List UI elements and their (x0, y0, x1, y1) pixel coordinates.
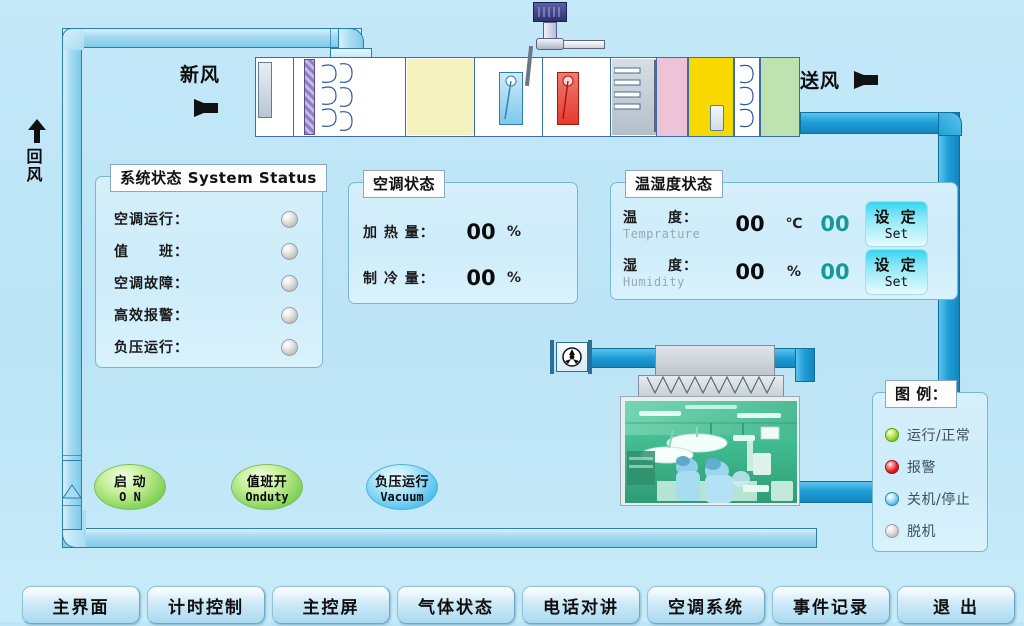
nav-button-label: 空调系统 (668, 593, 744, 618)
legend-gray-lamp-icon (885, 524, 899, 538)
supply-duct-top (800, 112, 960, 134)
ahu-segment-pink (656, 57, 688, 137)
duct-seam (62, 505, 82, 506)
legend-label: 脱机 (907, 521, 936, 541)
temperature-row: 温 度： Temprature 00 ℃ 00 设 定 Set (623, 201, 928, 247)
ahu-access-panel (710, 105, 724, 131)
legend-red-lamp-icon (885, 460, 899, 474)
ac-status-panel: 空调状态 加 热 量： 00 % 制 冷 量： 00 % (348, 182, 578, 304)
fan-flange-right (588, 340, 592, 374)
legend-item-running: 运行/正常 (885, 425, 970, 445)
supply-air-label-group: 送风 (800, 66, 876, 93)
status-row-label: 负压运行： (114, 337, 189, 357)
hepa-coil-icon (737, 62, 757, 132)
valve-pipe-horizontal (563, 40, 605, 49)
duct-top-horizontal (62, 28, 362, 48)
humidity-unit: % (777, 264, 811, 280)
temperature-label: 温 度： (623, 207, 723, 227)
system-status-title: 系统状态 System Status (110, 164, 327, 192)
status-row-label: 值 班： (114, 241, 189, 261)
nav-button-event-log[interactable]: 事件记录 (772, 586, 890, 624)
humidity-set-label-en: Set (885, 275, 908, 290)
bottom-nav-bar: 主界面 计时控制 主控屏 气体状态 电话对讲 空调系统 事件记录 退 出 (0, 586, 1024, 626)
humidity-set-label-cn: 设 定 (874, 254, 918, 275)
ac-status-title: 空调状态 (363, 170, 445, 198)
temperature-label-group: 温 度： Temprature (623, 207, 723, 241)
nav-button-label: 计时控制 (168, 593, 244, 618)
valve-body (536, 38, 564, 50)
humidity-label-en: Humidity (623, 275, 723, 289)
nav-button-label: 退 出 (933, 593, 979, 618)
temperature-set-label-en: Set (885, 227, 908, 242)
temperature-value: 00 (723, 212, 777, 236)
humidity-label-group: 湿 度： Humidity (623, 255, 723, 289)
legend-panel: 图 例： 运行/正常 报警 关机/停止 脱机 (872, 392, 988, 552)
hvac-mimic-screen: 新风 送风 回风 系统状态 System Status 空调运行： 值 班： 空… (0, 0, 1024, 622)
status-lamp-negative-pressure (281, 339, 298, 356)
legend-item-alarm: 报警 (885, 457, 970, 477)
supply-duct-corner (938, 112, 962, 136)
temp-humidity-panel: 温湿度状态 温 度： Temprature 00 ℃ 00 设 定 Set 湿 … (610, 182, 958, 300)
actuator-fins-icon (534, 3, 566, 21)
onduty-button[interactable]: 值班开 Onduty (231, 464, 303, 510)
legend-blue-lamp-icon (885, 492, 899, 506)
humidity-setpoint: 00 (811, 260, 859, 284)
nav-button-label: 主界面 (53, 593, 110, 618)
ac-row-label: 加 热 量： (363, 222, 455, 242)
nav-button-label: 事件记录 (793, 593, 869, 618)
fresh-air-label-group: 新风 (180, 60, 220, 117)
legend-item-stopped: 关机/停止 (885, 489, 970, 509)
exhaust-fan-housing (556, 342, 588, 372)
nav-button-main[interactable]: 主界面 (22, 586, 140, 624)
status-row-label: 高效报警： (114, 305, 189, 325)
nav-button-timer-control[interactable]: 计时控制 (147, 586, 265, 624)
vacuum-button[interactable]: 负压运行 Vacuum (366, 464, 438, 510)
status-row: 高效报警： (114, 299, 308, 331)
return-air-label: 回风 (26, 148, 44, 184)
humidity-set-button[interactable]: 设 定 Set (865, 249, 928, 295)
onduty-button-label-en: Onduty (245, 490, 288, 504)
onduty-button-label-cn: 值班开 (247, 471, 288, 490)
humidity-label: 湿 度： (623, 255, 723, 275)
temperature-setpoint: 00 (811, 212, 859, 236)
operating-room-image (625, 401, 797, 503)
status-row-label: 空调故障： (114, 273, 189, 293)
nav-button-main-panel[interactable]: 主控屏 (272, 586, 390, 624)
legend-label: 报警 (907, 457, 936, 477)
status-row: 空调故障： (114, 267, 308, 299)
operating-room-video-frame[interactable] (620, 396, 800, 506)
fresh-air-label: 新风 (180, 60, 220, 87)
legend-title: 图 例： (885, 380, 957, 408)
supply-duct-dropper (795, 348, 815, 382)
damper-triangle-icon (62, 482, 83, 500)
temp-humidity-title: 温湿度状态 (625, 170, 723, 198)
start-button-label-en: O N (119, 490, 141, 504)
nav-button-exit[interactable]: 退 出 (897, 586, 1015, 624)
fan-icon (557, 343, 587, 371)
hepa-filter-box (638, 375, 784, 397)
legend-label: 运行/正常 (907, 425, 970, 445)
ac-status-rows: 加 热 量： 00 % 制 冷 量： 00 % (363, 209, 565, 301)
status-row: 值 班： (114, 235, 308, 267)
duct-corner-topleft (62, 28, 84, 50)
ac-row-value: 00 (455, 266, 507, 290)
legend-items: 运行/正常 报警 关机/停止 脱机 (885, 425, 970, 553)
status-lamp-onduty (281, 243, 298, 260)
status-row: 负压运行： (114, 331, 308, 363)
nav-button-gas-status[interactable]: 气体状态 (397, 586, 515, 624)
temperature-set-label-cn: 设 定 (874, 206, 918, 227)
nav-button-label: 主控屏 (303, 593, 360, 618)
ac-row-value: 00 (455, 220, 507, 244)
legend-label: 关机/停止 (907, 489, 970, 509)
start-button-label-cn: 启 动 (114, 471, 146, 490)
status-row-label: 空调运行： (114, 209, 189, 229)
valve-actuator-icon (533, 2, 567, 22)
legend-item-offline: 脱机 (885, 521, 970, 541)
temperature-set-button[interactable]: 设 定 Set (865, 201, 928, 247)
hepa-pleats-icon (639, 376, 783, 396)
ac-row-unit: % (507, 224, 521, 240)
status-lamp-hepa-alarm (281, 307, 298, 324)
system-status-panel: 系统状态 System Status 空调运行： 值 班： 空调故障： 高效报警… (95, 176, 323, 368)
return-air-arrow-icon (26, 118, 48, 144)
legend-green-lamp-icon (885, 428, 899, 442)
fan-flange-left (550, 340, 554, 374)
start-on-button[interactable]: 启 动 O N (94, 464, 166, 510)
duct-seam (330, 28, 331, 48)
nav-button-ac-system[interactable]: 空调系统 (647, 586, 765, 624)
duct-seam (62, 455, 82, 456)
status-lamp-ac-fault (281, 275, 298, 292)
humidity-row: 湿 度： Humidity 00 % 00 设 定 Set (623, 249, 928, 295)
vacuum-button-label-en: Vacuum (380, 490, 423, 504)
ac-row-label: 制 冷 量： (363, 268, 455, 288)
supply-air-label: 送风 (800, 66, 840, 93)
duct-bottom-horizontal (62, 528, 817, 548)
return-air-label-group: 回风 (26, 118, 48, 184)
system-status-rows: 空调运行： 值 班： 空调故障： 高效报警： 负压运行： (114, 203, 308, 363)
ahu-segment-outlet (760, 57, 800, 137)
nav-button-intercom[interactable]: 电话对讲 (522, 586, 640, 624)
status-row: 空调运行： (114, 203, 308, 235)
supply-air-arrow-icon (854, 71, 876, 89)
ac-row-unit: % (507, 270, 521, 286)
nav-button-label: 气体状态 (418, 593, 494, 618)
humidity-value: 00 (723, 260, 777, 284)
temperature-label-en: Temprature (623, 227, 723, 241)
nav-button-label: 电话对讲 (543, 593, 619, 618)
hepa-plenum (655, 345, 775, 377)
status-lamp-ac-running (281, 211, 298, 228)
fresh-air-arrow-icon (194, 99, 216, 117)
ac-status-row: 加 热 量： 00 % (363, 209, 565, 255)
ac-status-row: 制 冷 量： 00 % (363, 255, 565, 301)
vacuum-button-label-cn: 负压运行 (375, 471, 429, 490)
temperature-unit: ℃ (777, 216, 811, 232)
